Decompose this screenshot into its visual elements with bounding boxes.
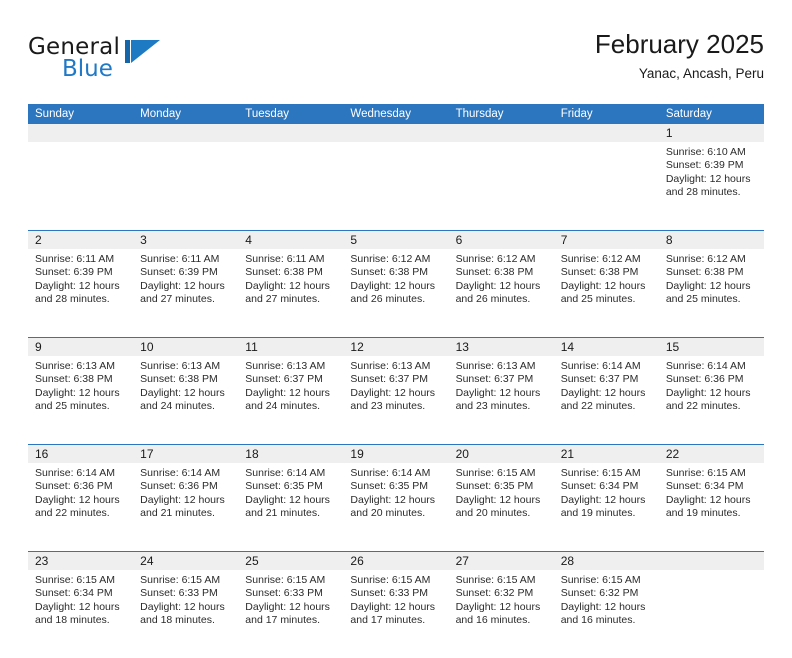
day-detail-line: Sunset: 6:32 PM: [456, 587, 547, 600]
calendar-day-cell-empty: [28, 142, 133, 230]
day-detail-line: Sunrise: 6:15 AM: [456, 574, 547, 587]
day-detail-line: Sunrise: 6:15 AM: [350, 574, 441, 587]
day-detail-line: Daylight: 12 hours: [140, 601, 231, 614]
location-subtitle: Yanac, Ancash, Peru: [595, 65, 764, 82]
day-detail-line: Daylight: 12 hours: [350, 387, 441, 400]
calendar-day-cell[interactable]: Sunrise: 6:13 AMSunset: 6:38 PMDaylight:…: [28, 356, 133, 444]
day-detail-line: Sunrise: 6:15 AM: [666, 467, 757, 480]
day-number[interactable]: 24: [133, 552, 238, 570]
day-detail-line: Sunset: 6:37 PM: [456, 373, 547, 386]
day-detail-line: and 24 minutes.: [245, 400, 336, 413]
calendar-day-cell[interactable]: Sunrise: 6:13 AMSunset: 6:37 PMDaylight:…: [343, 356, 448, 444]
day-detail-line: Sunrise: 6:12 AM: [456, 253, 547, 266]
day-number[interactable]: 16: [28, 445, 133, 463]
calendar-day-cell[interactable]: Sunrise: 6:15 AMSunset: 6:33 PMDaylight:…: [238, 570, 343, 658]
day-number-band: 1: [28, 124, 764, 142]
day-detail-line: and 18 minutes.: [140, 614, 231, 627]
day-detail-line: Sunset: 6:36 PM: [666, 373, 757, 386]
day-detail-line: Sunset: 6:39 PM: [140, 266, 231, 279]
day-number-empty: [133, 124, 238, 142]
day-number-band: 2345678: [28, 231, 764, 249]
day-detail-line: Sunrise: 6:15 AM: [561, 467, 652, 480]
day-number-empty: [238, 124, 343, 142]
brand-name-blue: Blue: [62, 56, 113, 82]
day-detail-line: and 20 minutes.: [350, 507, 441, 520]
day-detail-line: Sunrise: 6:14 AM: [245, 467, 336, 480]
weekday-header-thursday: Thursday: [449, 104, 554, 124]
calendar-day-cell-empty: [554, 142, 659, 230]
day-number[interactable]: 19: [343, 445, 448, 463]
page-title: February 2025: [595, 28, 764, 60]
calendar-day-cell[interactable]: Sunrise: 6:14 AMSunset: 6:35 PMDaylight:…: [343, 463, 448, 551]
calendar-grid: SundayMondayTuesdayWednesdayThursdayFrid…: [28, 104, 764, 658]
day-number[interactable]: 22: [659, 445, 764, 463]
day-detail-line: Daylight: 12 hours: [35, 601, 126, 614]
day-detail-line: Sunrise: 6:12 AM: [561, 253, 652, 266]
day-number-empty: [449, 124, 554, 142]
day-detail-line: Sunset: 6:34 PM: [666, 480, 757, 493]
day-detail-line: Daylight: 12 hours: [35, 280, 126, 293]
calendar-week-row: 16171819202122Sunrise: 6:14 AMSunset: 6:…: [28, 444, 764, 551]
day-number[interactable]: 28: [554, 552, 659, 570]
day-detail-line: Sunrise: 6:13 AM: [350, 360, 441, 373]
day-detail-line: Sunset: 6:38 PM: [456, 266, 547, 279]
day-detail-line: Daylight: 12 hours: [35, 494, 126, 507]
weekday-header-friday: Friday: [554, 104, 659, 124]
day-detail-line: and 27 minutes.: [245, 293, 336, 306]
day-detail-line: Daylight: 12 hours: [456, 494, 547, 507]
day-detail-line: Daylight: 12 hours: [140, 387, 231, 400]
calendar-day-cell-empty: [343, 142, 448, 230]
calendar-day-cell[interactable]: Sunrise: 6:14 AMSunset: 6:37 PMDaylight:…: [554, 356, 659, 444]
day-detail-line: Daylight: 12 hours: [245, 494, 336, 507]
day-number[interactable]: 18: [238, 445, 343, 463]
day-detail-line: and 28 minutes.: [666, 186, 757, 199]
brand-logo[interactable]: General Blue: [28, 34, 228, 90]
day-number-empty: [28, 124, 133, 142]
day-detail-line: Daylight: 12 hours: [456, 601, 547, 614]
day-detail-line: Daylight: 12 hours: [350, 280, 441, 293]
day-detail-line: Sunset: 6:39 PM: [666, 159, 757, 172]
day-detail-line: and 21 minutes.: [245, 507, 336, 520]
calendar-day-cell[interactable]: Sunrise: 6:15 AMSunset: 6:35 PMDaylight:…: [449, 463, 554, 551]
calendar-day-cell[interactable]: Sunrise: 6:12 AMSunset: 6:38 PMDaylight:…: [449, 249, 554, 337]
day-detail-line: Daylight: 12 hours: [561, 494, 652, 507]
page-header: General Blue February 2025 Yanac, Ancash…: [28, 28, 764, 98]
day-detail-line: Sunrise: 6:14 AM: [35, 467, 126, 480]
calendar-day-cell[interactable]: Sunrise: 6:12 AMSunset: 6:38 PMDaylight:…: [554, 249, 659, 337]
day-detail-line: and 25 minutes.: [666, 293, 757, 306]
calendar-week-cells: Sunrise: 6:13 AMSunset: 6:38 PMDaylight:…: [28, 356, 764, 444]
calendar-day-cell-empty: [133, 142, 238, 230]
day-detail-line: Daylight: 12 hours: [140, 494, 231, 507]
day-detail-line: Sunrise: 6:10 AM: [666, 146, 757, 159]
calendar-week-cells: Sunrise: 6:15 AMSunset: 6:34 PMDaylight:…: [28, 570, 764, 658]
day-number[interactable]: 27: [449, 552, 554, 570]
logo-triangle-shape: [131, 40, 160, 63]
day-detail-line: and 21 minutes.: [140, 507, 231, 520]
day-number[interactable]: 23: [28, 552, 133, 570]
calendar-day-cell[interactable]: Sunrise: 6:14 AMSunset: 6:36 PMDaylight:…: [659, 356, 764, 444]
day-number[interactable]: 20: [449, 445, 554, 463]
day-detail-line: Sunrise: 6:13 AM: [35, 360, 126, 373]
day-detail-line: Sunrise: 6:15 AM: [456, 467, 547, 480]
day-detail-line: Sunset: 6:39 PM: [35, 266, 126, 279]
day-detail-line: Sunset: 6:36 PM: [35, 480, 126, 493]
calendar-day-cell[interactable]: Sunrise: 6:11 AMSunset: 6:38 PMDaylight:…: [238, 249, 343, 337]
calendar-day-cell[interactable]: Sunrise: 6:15 AMSunset: 6:34 PMDaylight:…: [659, 463, 764, 551]
day-detail-line: Daylight: 12 hours: [456, 280, 547, 293]
day-detail-line: and 17 minutes.: [350, 614, 441, 627]
day-detail-line: Daylight: 12 hours: [350, 494, 441, 507]
weekday-header-wednesday: Wednesday: [343, 104, 448, 124]
day-number[interactable]: 7: [554, 231, 659, 249]
day-detail-line: Sunset: 6:34 PM: [561, 480, 652, 493]
calendar-day-cell-empty: [659, 570, 764, 658]
day-detail-line: and 25 minutes.: [561, 293, 652, 306]
calendar-day-cell[interactable]: Sunrise: 6:12 AMSunset: 6:38 PMDaylight:…: [343, 249, 448, 337]
day-detail-line: Sunrise: 6:12 AM: [666, 253, 757, 266]
calendar-day-cell[interactable]: Sunrise: 6:13 AMSunset: 6:37 PMDaylight:…: [449, 356, 554, 444]
day-detail-line: and 24 minutes.: [140, 400, 231, 413]
day-number-band: 9101112131415: [28, 338, 764, 356]
day-detail-line: Daylight: 12 hours: [140, 280, 231, 293]
day-detail-line: and 20 minutes.: [456, 507, 547, 520]
calendar-day-cell[interactable]: Sunrise: 6:13 AMSunset: 6:37 PMDaylight:…: [238, 356, 343, 444]
day-detail-line: and 16 minutes.: [561, 614, 652, 627]
day-detail-line: Sunset: 6:38 PM: [350, 266, 441, 279]
day-number[interactable]: 9: [28, 338, 133, 356]
day-detail-line: Daylight: 12 hours: [666, 173, 757, 186]
day-detail-line: Sunset: 6:38 PM: [561, 266, 652, 279]
day-number[interactable]: 2: [28, 231, 133, 249]
logo-bar-shape: [125, 40, 130, 63]
calendar-day-cell[interactable]: Sunrise: 6:15 AMSunset: 6:32 PMDaylight:…: [554, 570, 659, 658]
day-detail-line: Sunrise: 6:12 AM: [350, 253, 441, 266]
day-detail-line: and 28 minutes.: [35, 293, 126, 306]
calendar-week-cells: Sunrise: 6:10 AMSunset: 6:39 PMDaylight:…: [28, 142, 764, 230]
day-number[interactable]: 14: [554, 338, 659, 356]
calendar-day-cell[interactable]: Sunrise: 6:14 AMSunset: 6:35 PMDaylight:…: [238, 463, 343, 551]
day-number[interactable]: 25: [238, 552, 343, 570]
day-number[interactable]: 1: [659, 124, 764, 142]
day-detail-line: Daylight: 12 hours: [666, 280, 757, 293]
calendar-day-cell[interactable]: Sunrise: 6:12 AMSunset: 6:38 PMDaylight:…: [659, 249, 764, 337]
day-detail-line: Sunrise: 6:15 AM: [140, 574, 231, 587]
day-detail-line: and 27 minutes.: [140, 293, 231, 306]
day-number[interactable]: 13: [449, 338, 554, 356]
day-detail-line: and 18 minutes.: [35, 614, 126, 627]
day-detail-line: Sunset: 6:33 PM: [350, 587, 441, 600]
day-number-empty: [659, 552, 764, 570]
day-detail-line: Daylight: 12 hours: [561, 280, 652, 293]
day-detail-line: Daylight: 12 hours: [350, 601, 441, 614]
calendar-day-cell[interactable]: Sunrise: 6:15 AMSunset: 6:34 PMDaylight:…: [554, 463, 659, 551]
calendar-day-cell[interactable]: Sunrise: 6:15 AMSunset: 6:33 PMDaylight:…: [343, 570, 448, 658]
calendar-day-cell-empty: [449, 142, 554, 230]
day-detail-line: Sunrise: 6:15 AM: [245, 574, 336, 587]
day-detail-line: Sunset: 6:38 PM: [140, 373, 231, 386]
day-detail-line: Sunrise: 6:15 AM: [35, 574, 126, 587]
day-detail-line: Daylight: 12 hours: [245, 387, 336, 400]
day-number[interactable]: 10: [133, 338, 238, 356]
calendar-week-cells: Sunrise: 6:11 AMSunset: 6:39 PMDaylight:…: [28, 249, 764, 337]
day-detail-line: Daylight: 12 hours: [666, 494, 757, 507]
day-detail-line: Sunrise: 6:15 AM: [561, 574, 652, 587]
day-detail-line: Daylight: 12 hours: [245, 601, 336, 614]
day-detail-line: Sunrise: 6:13 AM: [245, 360, 336, 373]
day-number[interactable]: 21: [554, 445, 659, 463]
calendar-day-cell[interactable]: Sunrise: 6:15 AMSunset: 6:33 PMDaylight:…: [133, 570, 238, 658]
day-number[interactable]: 26: [343, 552, 448, 570]
day-detail-line: Sunrise: 6:14 AM: [561, 360, 652, 373]
day-number[interactable]: 5: [343, 231, 448, 249]
calendar-day-cell[interactable]: Sunrise: 6:15 AMSunset: 6:32 PMDaylight:…: [449, 570, 554, 658]
day-number-empty: [343, 124, 448, 142]
triangle-logo-icon: [125, 40, 161, 66]
calendar-day-cell[interactable]: Sunrise: 6:13 AMSunset: 6:38 PMDaylight:…: [133, 356, 238, 444]
day-number[interactable]: 12: [343, 338, 448, 356]
day-detail-line: Sunset: 6:33 PM: [140, 587, 231, 600]
day-detail-line: and 16 minutes.: [456, 614, 547, 627]
day-detail-line: Sunset: 6:35 PM: [245, 480, 336, 493]
calendar-day-cell[interactable]: Sunrise: 6:15 AMSunset: 6:34 PMDaylight:…: [28, 570, 133, 658]
day-detail-line: and 26 minutes.: [350, 293, 441, 306]
calendar-week-row: 2345678Sunrise: 6:11 AMSunset: 6:39 PMDa…: [28, 230, 764, 337]
calendar-day-cell[interactable]: Sunrise: 6:11 AMSunset: 6:39 PMDaylight:…: [28, 249, 133, 337]
weekday-header-tuesday: Tuesday: [238, 104, 343, 124]
day-detail-line: Sunrise: 6:14 AM: [666, 360, 757, 373]
day-number[interactable]: 17: [133, 445, 238, 463]
day-detail-line: Sunset: 6:35 PM: [350, 480, 441, 493]
day-detail-line: Sunset: 6:36 PM: [140, 480, 231, 493]
day-number[interactable]: 6: [449, 231, 554, 249]
day-detail-line: Sunrise: 6:11 AM: [140, 253, 231, 266]
day-detail-line: Sunrise: 6:11 AM: [245, 253, 336, 266]
calendar-day-cell[interactable]: Sunrise: 6:14 AMSunset: 6:36 PMDaylight:…: [28, 463, 133, 551]
day-number-band: 16171819202122: [28, 445, 764, 463]
day-detail-line: Sunset: 6:37 PM: [561, 373, 652, 386]
day-detail-line: Sunset: 6:34 PM: [35, 587, 126, 600]
calendar-week-row: 1Sunrise: 6:10 AMSunset: 6:39 PMDaylight…: [28, 124, 764, 230]
day-detail-line: Daylight: 12 hours: [245, 280, 336, 293]
day-detail-line: and 23 minutes.: [350, 400, 441, 413]
day-detail-line: Sunset: 6:38 PM: [245, 266, 336, 279]
calendar-day-cell[interactable]: Sunrise: 6:10 AMSunset: 6:39 PMDaylight:…: [659, 142, 764, 230]
day-detail-line: and 19 minutes.: [666, 507, 757, 520]
day-detail-line: Daylight: 12 hours: [35, 387, 126, 400]
day-detail-line: Sunrise: 6:11 AM: [35, 253, 126, 266]
day-detail-line: Sunset: 6:33 PM: [245, 587, 336, 600]
day-detail-line: Sunset: 6:38 PM: [666, 266, 757, 279]
calendar-week-row: 232425262728Sunrise: 6:15 AMSunset: 6:34…: [28, 551, 764, 658]
day-number-empty: [554, 124, 659, 142]
day-detail-line: and 26 minutes.: [456, 293, 547, 306]
calendar-week-row: 9101112131415Sunrise: 6:13 AMSunset: 6:3…: [28, 337, 764, 444]
day-detail-line: Sunrise: 6:14 AM: [350, 467, 441, 480]
day-detail-line: Daylight: 12 hours: [666, 387, 757, 400]
day-detail-line: Sunset: 6:37 PM: [350, 373, 441, 386]
day-detail-line: and 19 minutes.: [561, 507, 652, 520]
day-number-band: 232425262728: [28, 552, 764, 570]
day-detail-line: Sunrise: 6:13 AM: [140, 360, 231, 373]
day-detail-line: Sunset: 6:38 PM: [35, 373, 126, 386]
day-number[interactable]: 4: [238, 231, 343, 249]
day-detail-line: and 23 minutes.: [456, 400, 547, 413]
day-detail-line: Sunset: 6:32 PM: [561, 587, 652, 600]
calendar-week-cells: Sunrise: 6:14 AMSunset: 6:36 PMDaylight:…: [28, 463, 764, 551]
day-detail-line: Sunset: 6:35 PM: [456, 480, 547, 493]
day-detail-line: and 22 minutes.: [35, 507, 126, 520]
weekday-header-monday: Monday: [133, 104, 238, 124]
day-detail-line: Sunrise: 6:14 AM: [140, 467, 231, 480]
weekday-header-saturday: Saturday: [659, 104, 764, 124]
weekday-header-sunday: Sunday: [28, 104, 133, 124]
day-detail-line: Daylight: 12 hours: [561, 601, 652, 614]
calendar-day-cell[interactable]: Sunrise: 6:11 AMSunset: 6:39 PMDaylight:…: [133, 249, 238, 337]
day-number[interactable]: 11: [238, 338, 343, 356]
day-detail-line: Sunrise: 6:13 AM: [456, 360, 547, 373]
calendar-weeks: 1Sunrise: 6:10 AMSunset: 6:39 PMDaylight…: [28, 124, 764, 658]
day-detail-line: Sunset: 6:37 PM: [245, 373, 336, 386]
day-number[interactable]: 8: [659, 231, 764, 249]
day-detail-line: and 17 minutes.: [245, 614, 336, 627]
day-number[interactable]: 15: [659, 338, 764, 356]
calendar-day-cell[interactable]: Sunrise: 6:14 AMSunset: 6:36 PMDaylight:…: [133, 463, 238, 551]
title-block: February 2025 Yanac, Ancash, Peru: [595, 28, 764, 82]
calendar-page: General Blue February 2025 Yanac, Ancash…: [0, 0, 792, 612]
day-detail-line: Daylight: 12 hours: [456, 387, 547, 400]
day-detail-line: and 22 minutes.: [561, 400, 652, 413]
day-number[interactable]: 3: [133, 231, 238, 249]
day-detail-line: Daylight: 12 hours: [561, 387, 652, 400]
day-detail-line: and 25 minutes.: [35, 400, 126, 413]
day-detail-line: and 22 minutes.: [666, 400, 757, 413]
calendar-day-cell-empty: [238, 142, 343, 230]
weekday-header-row: SundayMondayTuesdayWednesdayThursdayFrid…: [28, 104, 764, 124]
